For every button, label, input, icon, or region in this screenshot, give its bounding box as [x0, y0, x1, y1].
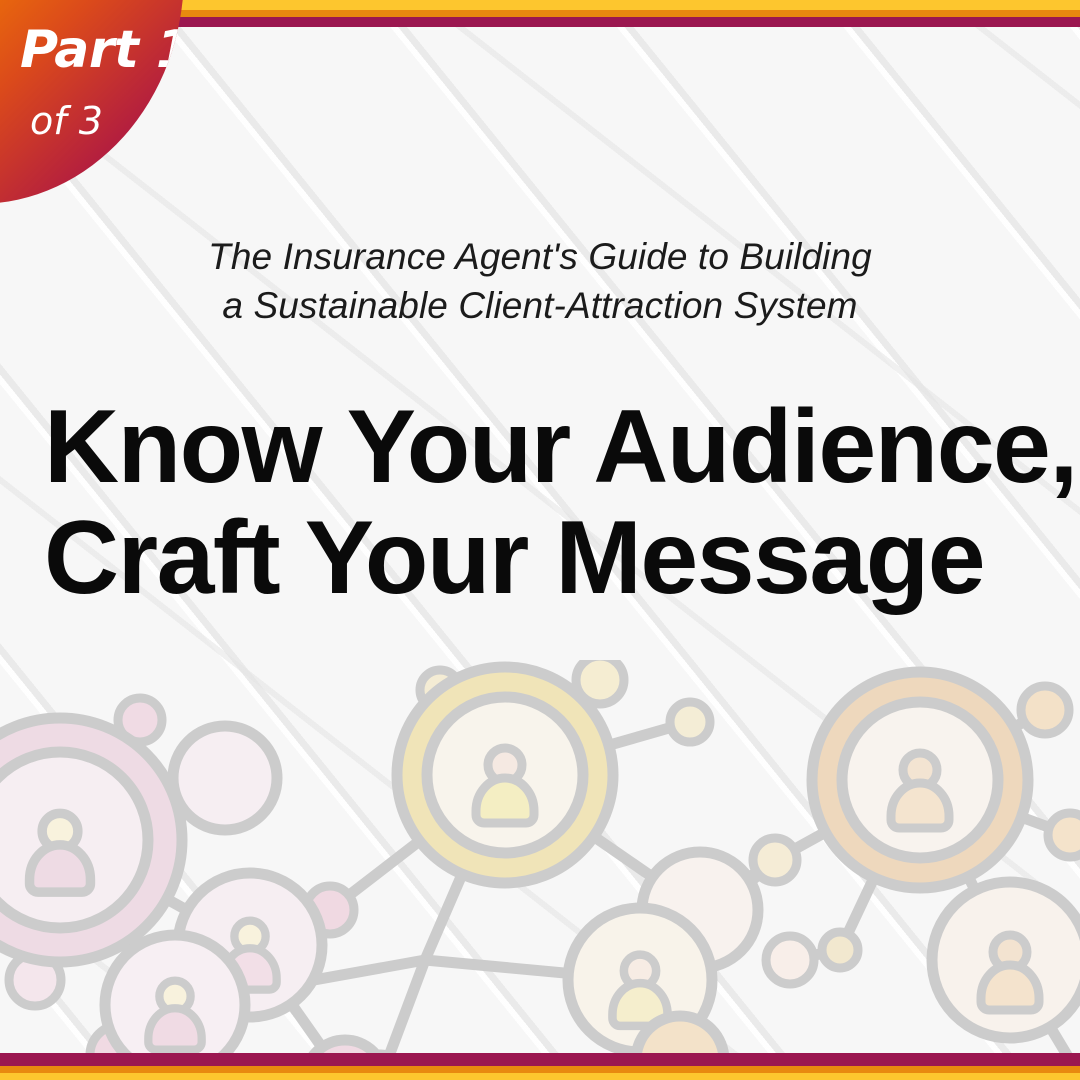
subtitle: The Insurance Agent's Guide to Building … [0, 232, 1080, 330]
network-avatar-node [0, 718, 182, 962]
part-badge-of-label: of 3 [30, 102, 184, 140]
bottom-accent-bar [0, 1053, 1080, 1080]
headline-line-1: Know Your Audience, [44, 392, 1044, 503]
bottom-bar-stripe-orange [0, 1066, 1080, 1073]
headline: Know Your Audience, Craft Your Message [44, 392, 1044, 614]
bottom-bar-stripe-magenta [0, 1053, 1080, 1066]
headline-line-2: Craft Your Message [44, 503, 1044, 614]
part-badge-content: Part 1 of 3 [0, 0, 184, 204]
social-card: Part 1 of 3 The Insurance Agent's Guide … [0, 0, 1080, 1080]
part-badge: Part 1 of 3 [0, 0, 184, 204]
network-avatar-node [397, 667, 613, 883]
network-avatar-node [812, 672, 1028, 888]
bottom-bar-stripe-yellow [0, 1073, 1080, 1080]
part-badge-part-label: Part 1 [20, 24, 184, 76]
network-ring-node [173, 726, 277, 830]
subtitle-line-1: The Insurance Agent's Guide to Building [0, 232, 1080, 281]
subtitle-line-2: a Sustainable Client-Attraction System [0, 281, 1080, 330]
people-network-illustration [0, 660, 1080, 1080]
network-avatar-node [932, 882, 1080, 1038]
